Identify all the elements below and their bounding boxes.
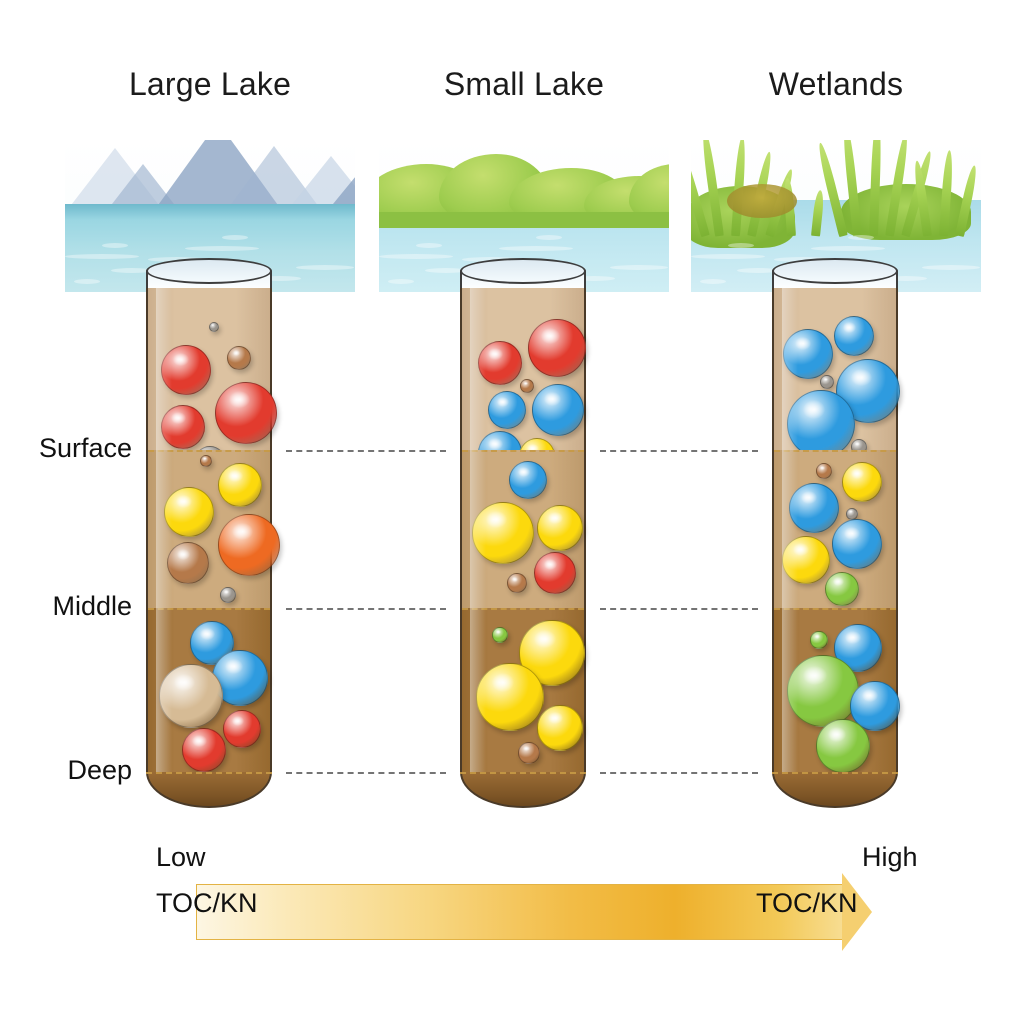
sediment-particle-brown <box>520 379 534 393</box>
band-boundary <box>774 450 896 452</box>
sediment-particle-blue <box>509 461 547 499</box>
water-ripple <box>185 246 259 251</box>
small-lake-core <box>460 258 586 808</box>
depth-connector-line <box>286 772 446 774</box>
sediment-particle-blue <box>488 391 526 429</box>
water-ripple <box>102 243 128 248</box>
tube-rim <box>772 258 898 284</box>
tube-bottom-cap <box>460 772 586 808</box>
band-boundary <box>462 450 584 452</box>
water-ripple <box>610 265 668 270</box>
water-ripple <box>499 246 573 251</box>
band-boundary <box>462 608 584 610</box>
deep-boundary <box>146 772 272 774</box>
sediment-particle-blue <box>783 329 833 379</box>
sediment-particle-orange <box>218 514 280 576</box>
sediment-particle-red <box>478 341 522 385</box>
depth-label-surface: Surface <box>0 433 132 464</box>
sediment-particle-tan <box>159 664 223 728</box>
tube-rim <box>146 258 272 284</box>
sediment-particle-red <box>161 405 205 449</box>
sediment-particle-yellow <box>472 502 534 564</box>
sediment-particle-blue <box>789 483 839 533</box>
sediment-particle-green <box>816 719 870 773</box>
sediment-particle-blue <box>787 390 855 458</box>
band-boundary <box>148 450 270 452</box>
sediment-particle-green <box>810 631 828 649</box>
column-title-1: Large Lake <box>65 66 355 103</box>
sediment-particle-blue <box>532 384 584 436</box>
sediment-particle-yellow <box>164 487 214 537</box>
sediment-column <box>772 288 898 772</box>
sediment-particle-red <box>528 319 586 377</box>
sediment-particle-red <box>215 382 277 444</box>
sediment-particle-brown <box>227 346 251 370</box>
sediment-particle-brown <box>816 463 832 479</box>
sediment-particle-brown <box>507 573 527 593</box>
water-ripple <box>222 235 248 240</box>
deep-boundary <box>772 772 898 774</box>
wetlands-core <box>772 258 898 808</box>
sediment-column <box>460 288 586 772</box>
sediment-particle-blue <box>834 316 874 356</box>
water-ripple <box>536 235 562 240</box>
water-ripple <box>848 235 874 240</box>
sediment-particle-brown <box>518 742 540 764</box>
sediment-particle-red <box>223 710 261 748</box>
sediment-particle-yellow <box>476 663 544 731</box>
water-ripple <box>811 246 885 251</box>
band-boundary <box>774 608 896 610</box>
band-boundary <box>148 608 270 610</box>
legend-high-metric: TOC/KN <box>756 888 858 919</box>
sediment-particle-yellow <box>218 463 262 507</box>
sediment-particle-gray <box>820 375 834 389</box>
water-ripple <box>700 279 726 284</box>
sediment-particle-blue <box>832 519 882 569</box>
sediment-particle-yellow <box>537 505 583 551</box>
depth-connector-line <box>600 450 758 452</box>
depth-label-middle: Middle <box>0 591 132 622</box>
sediment-particle-yellow <box>842 462 882 502</box>
shore-band <box>379 212 669 228</box>
legend-low-metric: TOC/KN <box>156 888 258 919</box>
depth-label-deep: Deep <box>0 755 132 786</box>
water-ripple <box>379 254 453 259</box>
water-ripple <box>388 279 414 284</box>
toc-kn-gradient-bar <box>196 884 844 940</box>
legend-high-label: High <box>862 842 918 873</box>
sediment-particle-gray <box>220 587 236 603</box>
sediment-particle-red <box>182 728 226 772</box>
depth-connector-line <box>600 608 758 610</box>
water-ripple <box>691 254 765 259</box>
legend-low-label: Low <box>156 842 206 873</box>
sediment-particle-yellow <box>537 705 583 751</box>
water-ripple <box>74 279 100 284</box>
column-title-3: Wetlands <box>691 66 981 103</box>
sediment-particle-brown <box>200 455 212 467</box>
sediment-particle-green <box>825 572 859 606</box>
sediment-particle-yellow <box>782 536 830 584</box>
sediment-particle-red <box>534 552 576 594</box>
tube-bottom-cap <box>146 772 272 808</box>
water-ripple <box>416 243 442 248</box>
depth-connector-line <box>286 608 446 610</box>
cattail-tuft <box>727 184 797 218</box>
sediment-particle-red <box>161 345 211 395</box>
water-ripple <box>728 243 754 248</box>
water-ripple <box>65 254 139 259</box>
water-ripple <box>922 265 980 270</box>
sediment-particle-green <box>787 655 859 727</box>
sediment-particle-gray <box>209 322 219 332</box>
sediment-column <box>146 288 272 772</box>
depth-connector-line <box>600 772 758 774</box>
depth-connector-line <box>286 450 446 452</box>
sediment-particle-brown <box>167 542 209 584</box>
tube-rim <box>460 258 586 284</box>
sediment-particle-green <box>492 627 508 643</box>
figure-canvas: Large LakeSmall LakeWetlandsSurfaceMiddl… <box>0 0 1024 1024</box>
water-ripple <box>296 265 354 270</box>
deep-boundary <box>460 772 586 774</box>
large-lake-core <box>146 258 272 808</box>
column-title-2: Small Lake <box>379 66 669 103</box>
tube-bottom-cap <box>772 772 898 808</box>
